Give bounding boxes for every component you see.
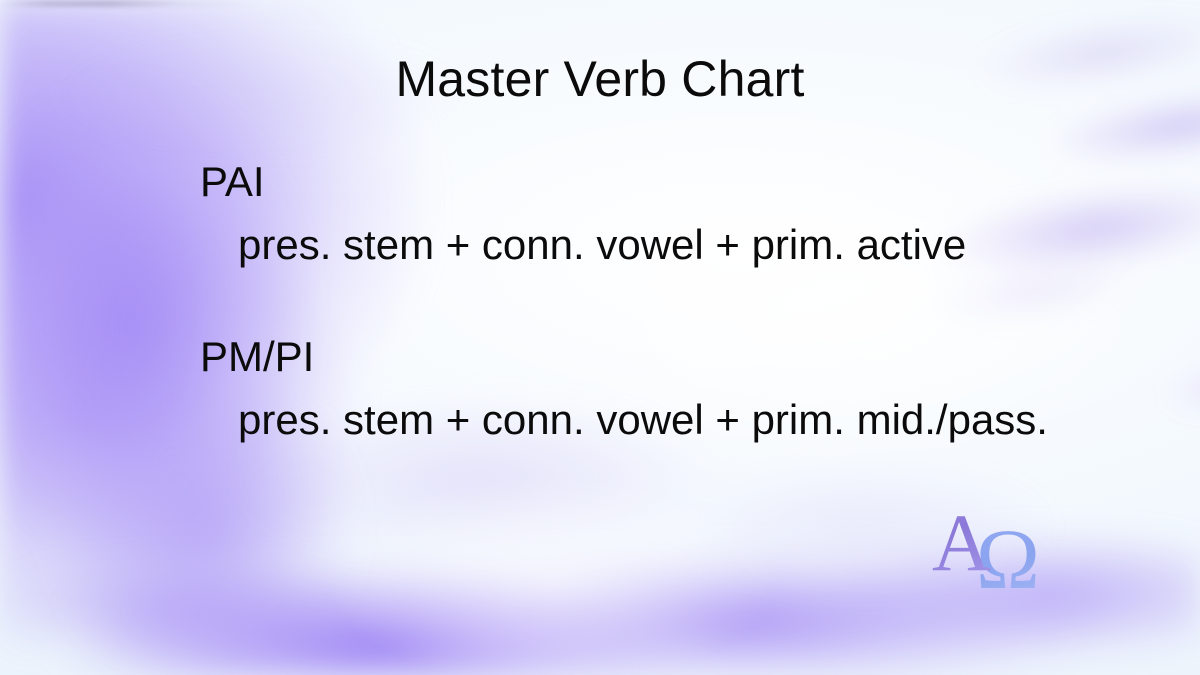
slide-title: Master Verb Chart — [0, 52, 1200, 106]
block-formula-pmpi: pres. stem + conn. vowel + prim. mid./pa… — [238, 398, 1048, 442]
content-block-pai: PAI pres. stem + conn. vowel + prim. act… — [200, 160, 966, 267]
content-block-pmpi: PM/PI pres. stem + conn. vowel + prim. m… — [200, 335, 1048, 442]
block-label-pai: PAI — [200, 160, 966, 204]
block-label-pmpi: PM/PI — [200, 335, 1048, 379]
svg-text:Α: Α — [932, 497, 991, 588]
presentation-slide: Master Verb Chart PAI pres. stem + conn.… — [0, 0, 1200, 675]
alpha-omega-logo: Ω Α — [928, 492, 1068, 600]
alpha-omega-logo-icon: Ω Α — [928, 492, 1068, 600]
slide-content: Master Verb Chart PAI pres. stem + conn.… — [0, 0, 1200, 675]
block-formula-pai: pres. stem + conn. vowel + prim. active — [238, 223, 966, 267]
